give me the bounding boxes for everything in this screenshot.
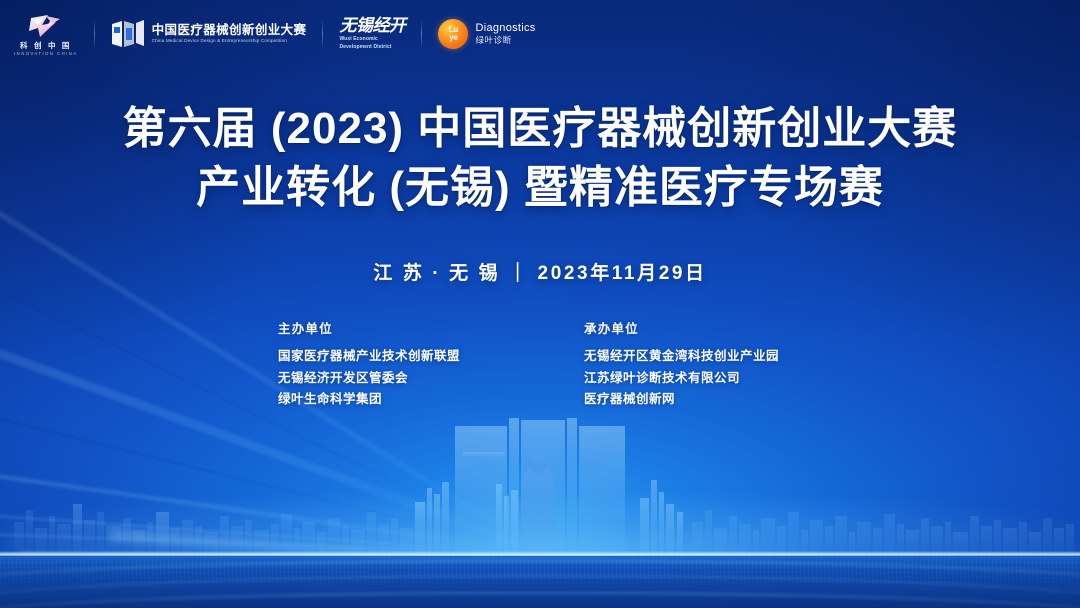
poster-subtitle: 江 苏 · 无 锡 ｜ 2023年11月29日 bbox=[0, 258, 1080, 285]
logo-innovation-china[interactable]: 科 创 中 国 INNOVATION CHINA bbox=[14, 12, 78, 56]
logo-divider-1 bbox=[94, 19, 95, 49]
logo-luye-en: Diagnostics bbox=[475, 23, 535, 34]
logo-wuxi-development-district[interactable]: 无锡经开 Wuxi Economic Development District bbox=[339, 17, 405, 51]
organizer-host-item: 绿叶生命科学集团 bbox=[278, 389, 496, 411]
organizer-cohost-heading: 承办单位 bbox=[584, 318, 802, 337]
logo-wuxi-mark: 无锡经开 bbox=[339, 17, 405, 34]
logo-luye-cn: 绿叶诊断 bbox=[475, 36, 535, 45]
bird-ribbon-icon bbox=[26, 12, 66, 40]
organizer-section: 主办单位 国家医疗器械产业技术创新联盟 无锡经济开发区管委会 绿叶生命科学集团 … bbox=[0, 318, 1080, 411]
organizer-cohost-item: 医疗器械创新网 bbox=[584, 389, 802, 411]
logo-divider-3 bbox=[421, 19, 422, 49]
organizer-column-host: 主办单位 国家医疗器械产业技术创新联盟 无锡经济开发区管委会 绿叶生命科学集团 bbox=[278, 318, 496, 411]
logo-wuxi-en-line1: Wuxi Economic bbox=[339, 36, 377, 42]
logo-cmdc-cn: 中国医疗器械创新创业大赛 bbox=[152, 24, 307, 37]
poster-title: 第六届 (2023) 中国医疗器械创新创业大赛 产业转化 (无锡) 暨精准医疗专… bbox=[0, 100, 1080, 218]
logo-wuxi-en-line2: Development District bbox=[339, 44, 391, 50]
logo-luye-diagnostics[interactable]: Lu ye Diagnostics 绿叶诊断 bbox=[438, 19, 535, 49]
organizer-host-heading: 主办单位 bbox=[278, 318, 496, 337]
logo-cmdc-en: China Medical Device Design & Entreprene… bbox=[152, 39, 307, 44]
logo-cmdc-competition[interactable]: 中国医疗器械创新创业大赛 China Medical Device Design… bbox=[111, 19, 307, 49]
logo-divider-2 bbox=[322, 19, 323, 49]
organizer-host-item: 无锡经济开发区管委会 bbox=[278, 368, 496, 390]
organizer-column-cohost: 承办单位 无锡经开区黄金湾科技创业产业园 江苏绿叶诊断技术有限公司 医疗器械创新… bbox=[584, 318, 802, 411]
poster-canvas: 科 创 中 国 INNOVATION CHINA 中国医疗器械创新创业大赛 Ch… bbox=[0, 0, 1080, 608]
organizer-cohost-item: 江苏绿叶诊断技术有限公司 bbox=[584, 368, 802, 390]
open-book-gate-icon bbox=[111, 19, 145, 49]
logo-innovation-china-cn: 科 创 中 国 bbox=[20, 42, 72, 50]
poster-title-line-1: 第六届 (2023) 中国医疗器械创新创业大赛 bbox=[0, 100, 1080, 159]
sponsor-logo-bar: 科 创 中 国 INNOVATION CHINA 中国医疗器械创新创业大赛 Ch… bbox=[14, 12, 536, 56]
organizer-host-item: 国家医疗器械产业技术创新联盟 bbox=[278, 346, 496, 368]
luye-badge-icon: Lu ye bbox=[438, 19, 468, 49]
organizer-cohost-item: 无锡经开区黄金湾科技创业产业园 bbox=[584, 346, 802, 368]
luye-badge-line2: ye bbox=[449, 34, 458, 41]
poster-title-line-2: 产业转化 (无锡) 暨精准医疗专场赛 bbox=[0, 159, 1080, 218]
logo-innovation-china-en: INNOVATION CHINA bbox=[14, 52, 78, 56]
